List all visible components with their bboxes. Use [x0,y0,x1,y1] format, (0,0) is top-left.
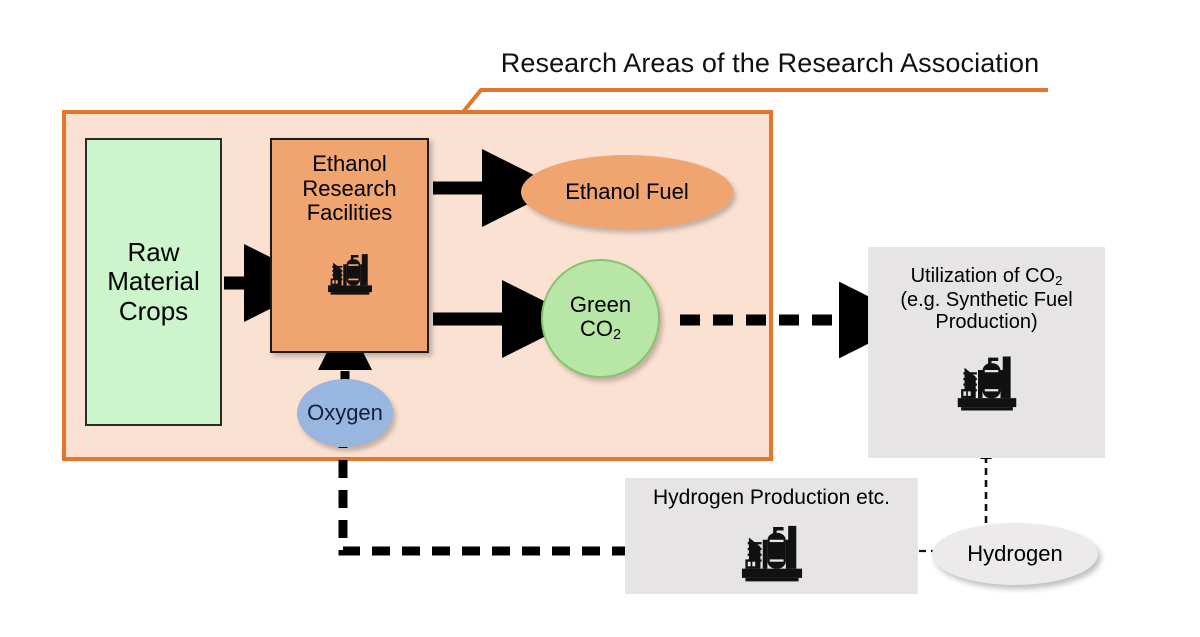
hydrogen-node[interactable]: Hydrogen [932,523,1098,585]
chemical-plant-icon [735,512,809,586]
ethanol-facilities-line-2: Research [302,177,396,202]
green-co2-node[interactable]: Green CO2 [541,259,660,378]
utilization-line-3: Production) [935,311,1037,333]
raw-material-line-1: Raw [127,238,179,267]
chemical-plant-icon [323,244,377,298]
utilization-of-co2-box[interactable]: Utilization of CO2 (e.g. Synthetic Fuel … [868,247,1105,458]
page-title: Research Areas of the Research Associati… [470,48,1070,79]
title-callout-line [463,90,1048,112]
ethanol-facilities-line-3: Facilities [307,201,393,226]
diagram-canvas: Research Areas of the Research Associati… [0,0,1200,637]
hydrogen-production-box[interactable]: Hydrogen Production etc. [625,478,918,594]
utilization-line-1: Utilization of CO2 [911,265,1063,289]
oxygen-label: Oxygen [307,401,383,425]
chemical-plant-icon [951,343,1023,415]
utilization-line-2: (e.g. Synthetic Fuel [900,289,1072,311]
oxygen-node[interactable]: Oxygen [297,379,393,447]
hydrogen-label: Hydrogen [967,542,1062,566]
green-co2-line-2: CO2 [570,317,631,344]
ethanol-facilities-line-1: Ethanol [312,152,387,177]
ethanol-fuel-label: Ethanol Fuel [565,180,689,204]
hydrogen-production-label: Hydrogen Production etc. [653,486,890,510]
ethanol-fuel-node[interactable]: Ethanol Fuel [521,155,733,229]
raw-material-line-3: Crops [119,297,188,326]
raw-material-crops-box[interactable]: Raw Material Crops [85,138,222,426]
raw-material-line-2: Material [107,267,199,296]
ethanol-research-facilities-box[interactable]: Ethanol Research Facilities [270,138,429,353]
green-co2-line-1: Green [570,293,631,317]
connector-hydrogen-production-to-oxygen [343,447,660,551]
